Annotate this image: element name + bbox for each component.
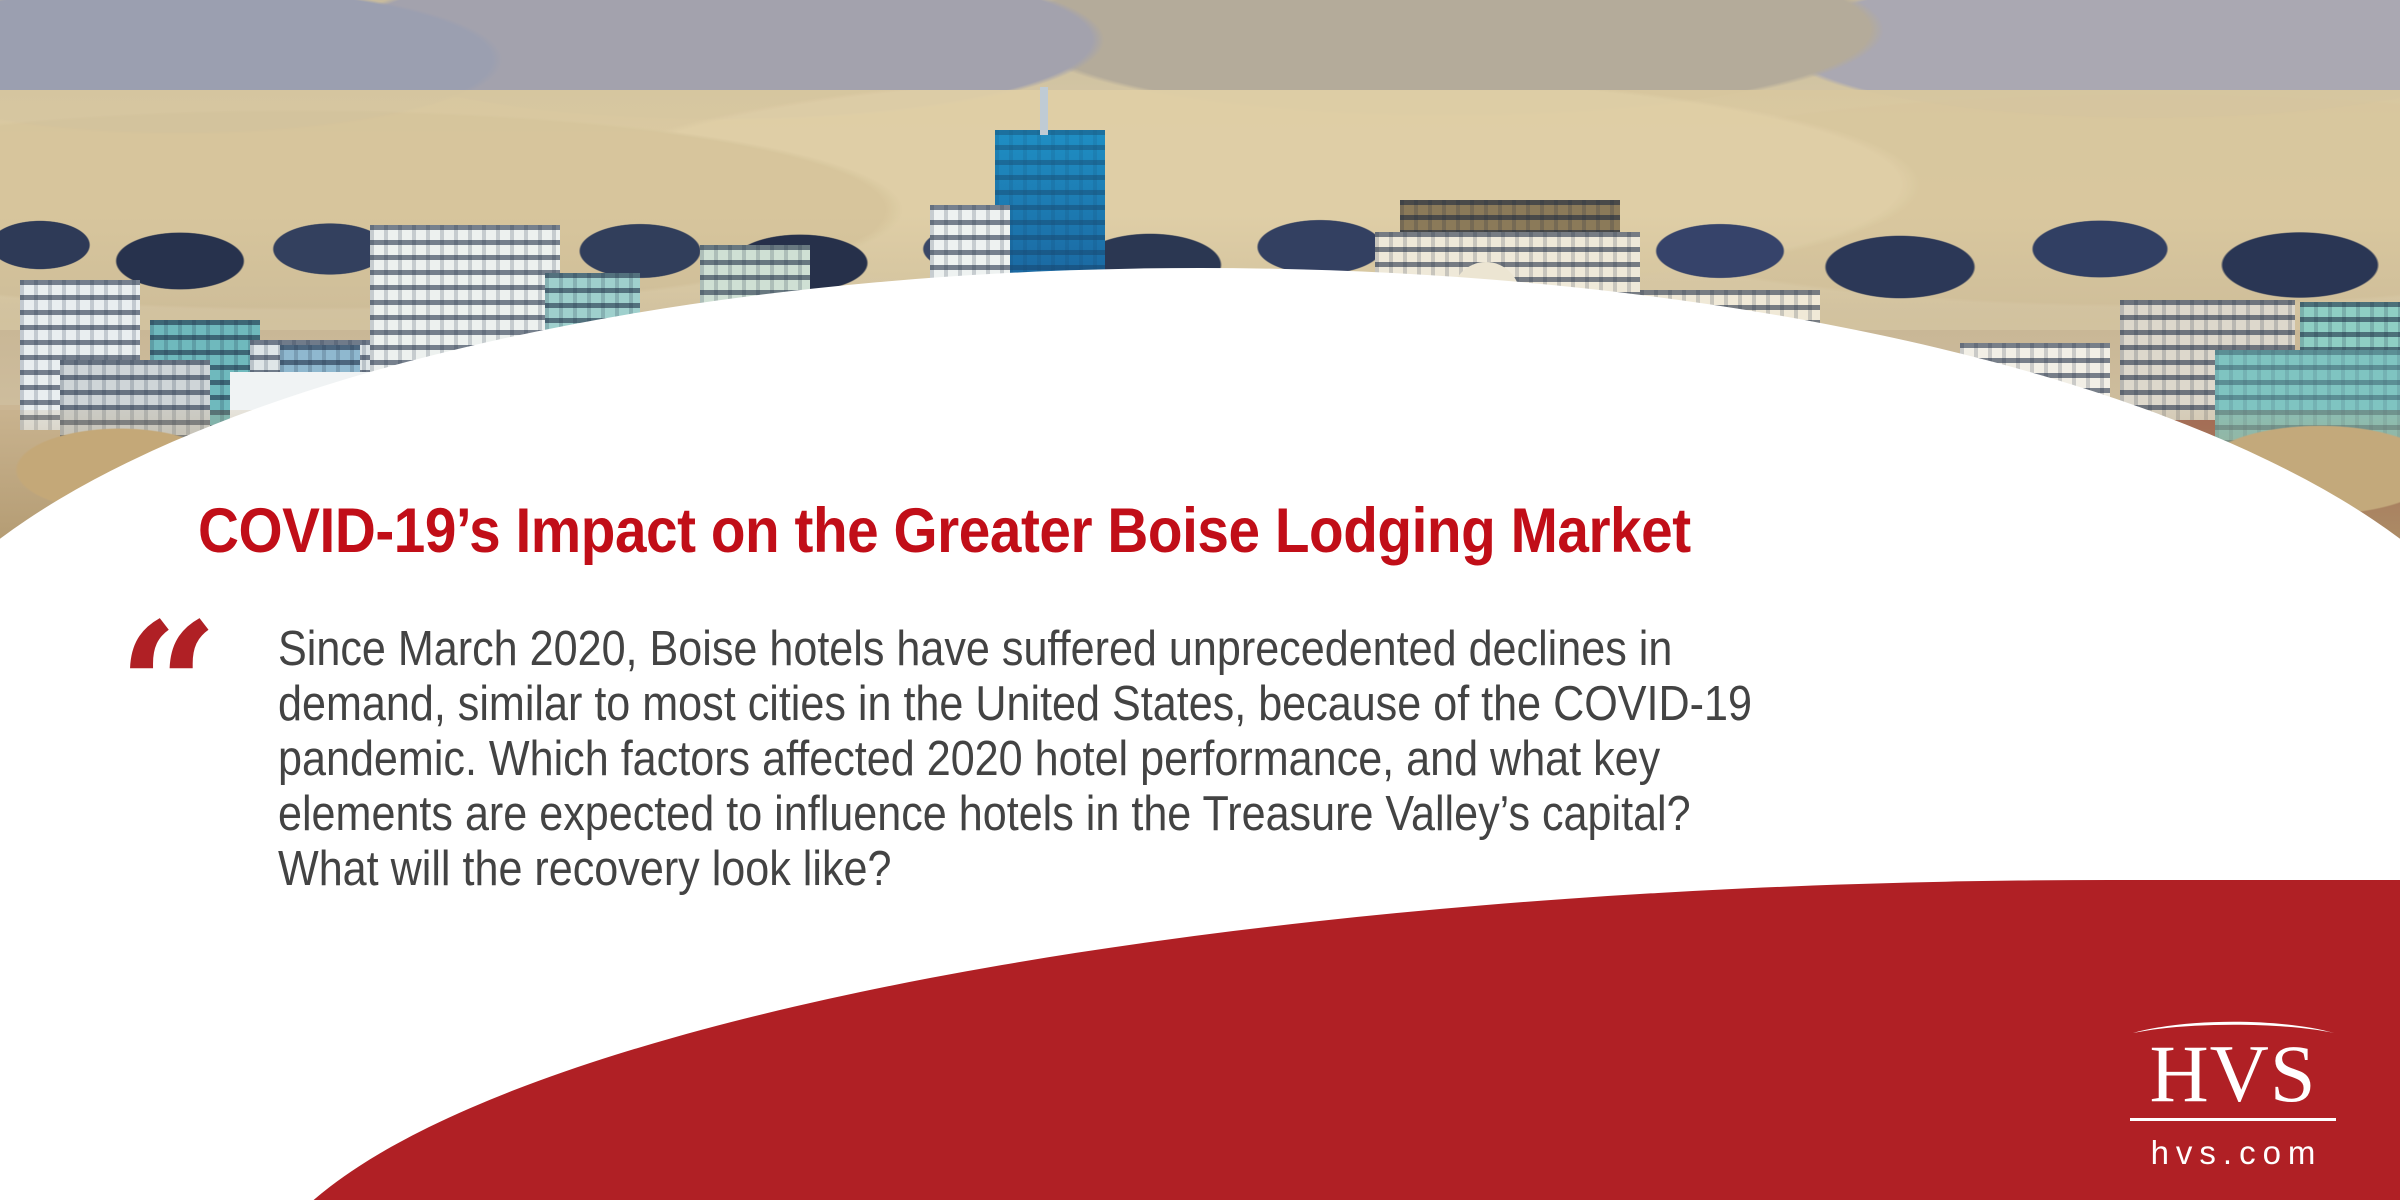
open-quote-icon: “ — [118, 600, 219, 775]
hvs-logo[interactable]: HVS hvs.com — [2108, 1018, 2358, 1172]
hero-paragraph-line: What will the recovery look like? — [278, 842, 2038, 897]
hero-paragraph-line: Since March 2020, Boise hotels have suff… — [278, 622, 2038, 677]
page-title: COVID-19’s Impact on the Greater Boise L… — [198, 495, 1691, 567]
hero-paragraph-line: elements are expected to influence hotel… — [278, 787, 2038, 842]
hero-paragraph-line: pandemic. Which factors affected 2020 ho… — [278, 732, 2038, 787]
hvs-marketing-banner: COVID-19’s Impact on the Greater Boise L… — [0, 0, 2400, 1200]
hero-paragraph-line: demand, similar to most cities in the Un… — [278, 677, 2038, 732]
hero-paragraph: Since March 2020, Boise hotels have suff… — [278, 622, 2038, 897]
logo-wordmark: HVS — [2108, 1036, 2358, 1112]
logo-url[interactable]: hvs.com — [2108, 1134, 2358, 1172]
logo-arc-icon — [2131, 1018, 2336, 1034]
banner-content: COVID-19’s Impact on the Greater Boise L… — [0, 0, 2400, 1200]
